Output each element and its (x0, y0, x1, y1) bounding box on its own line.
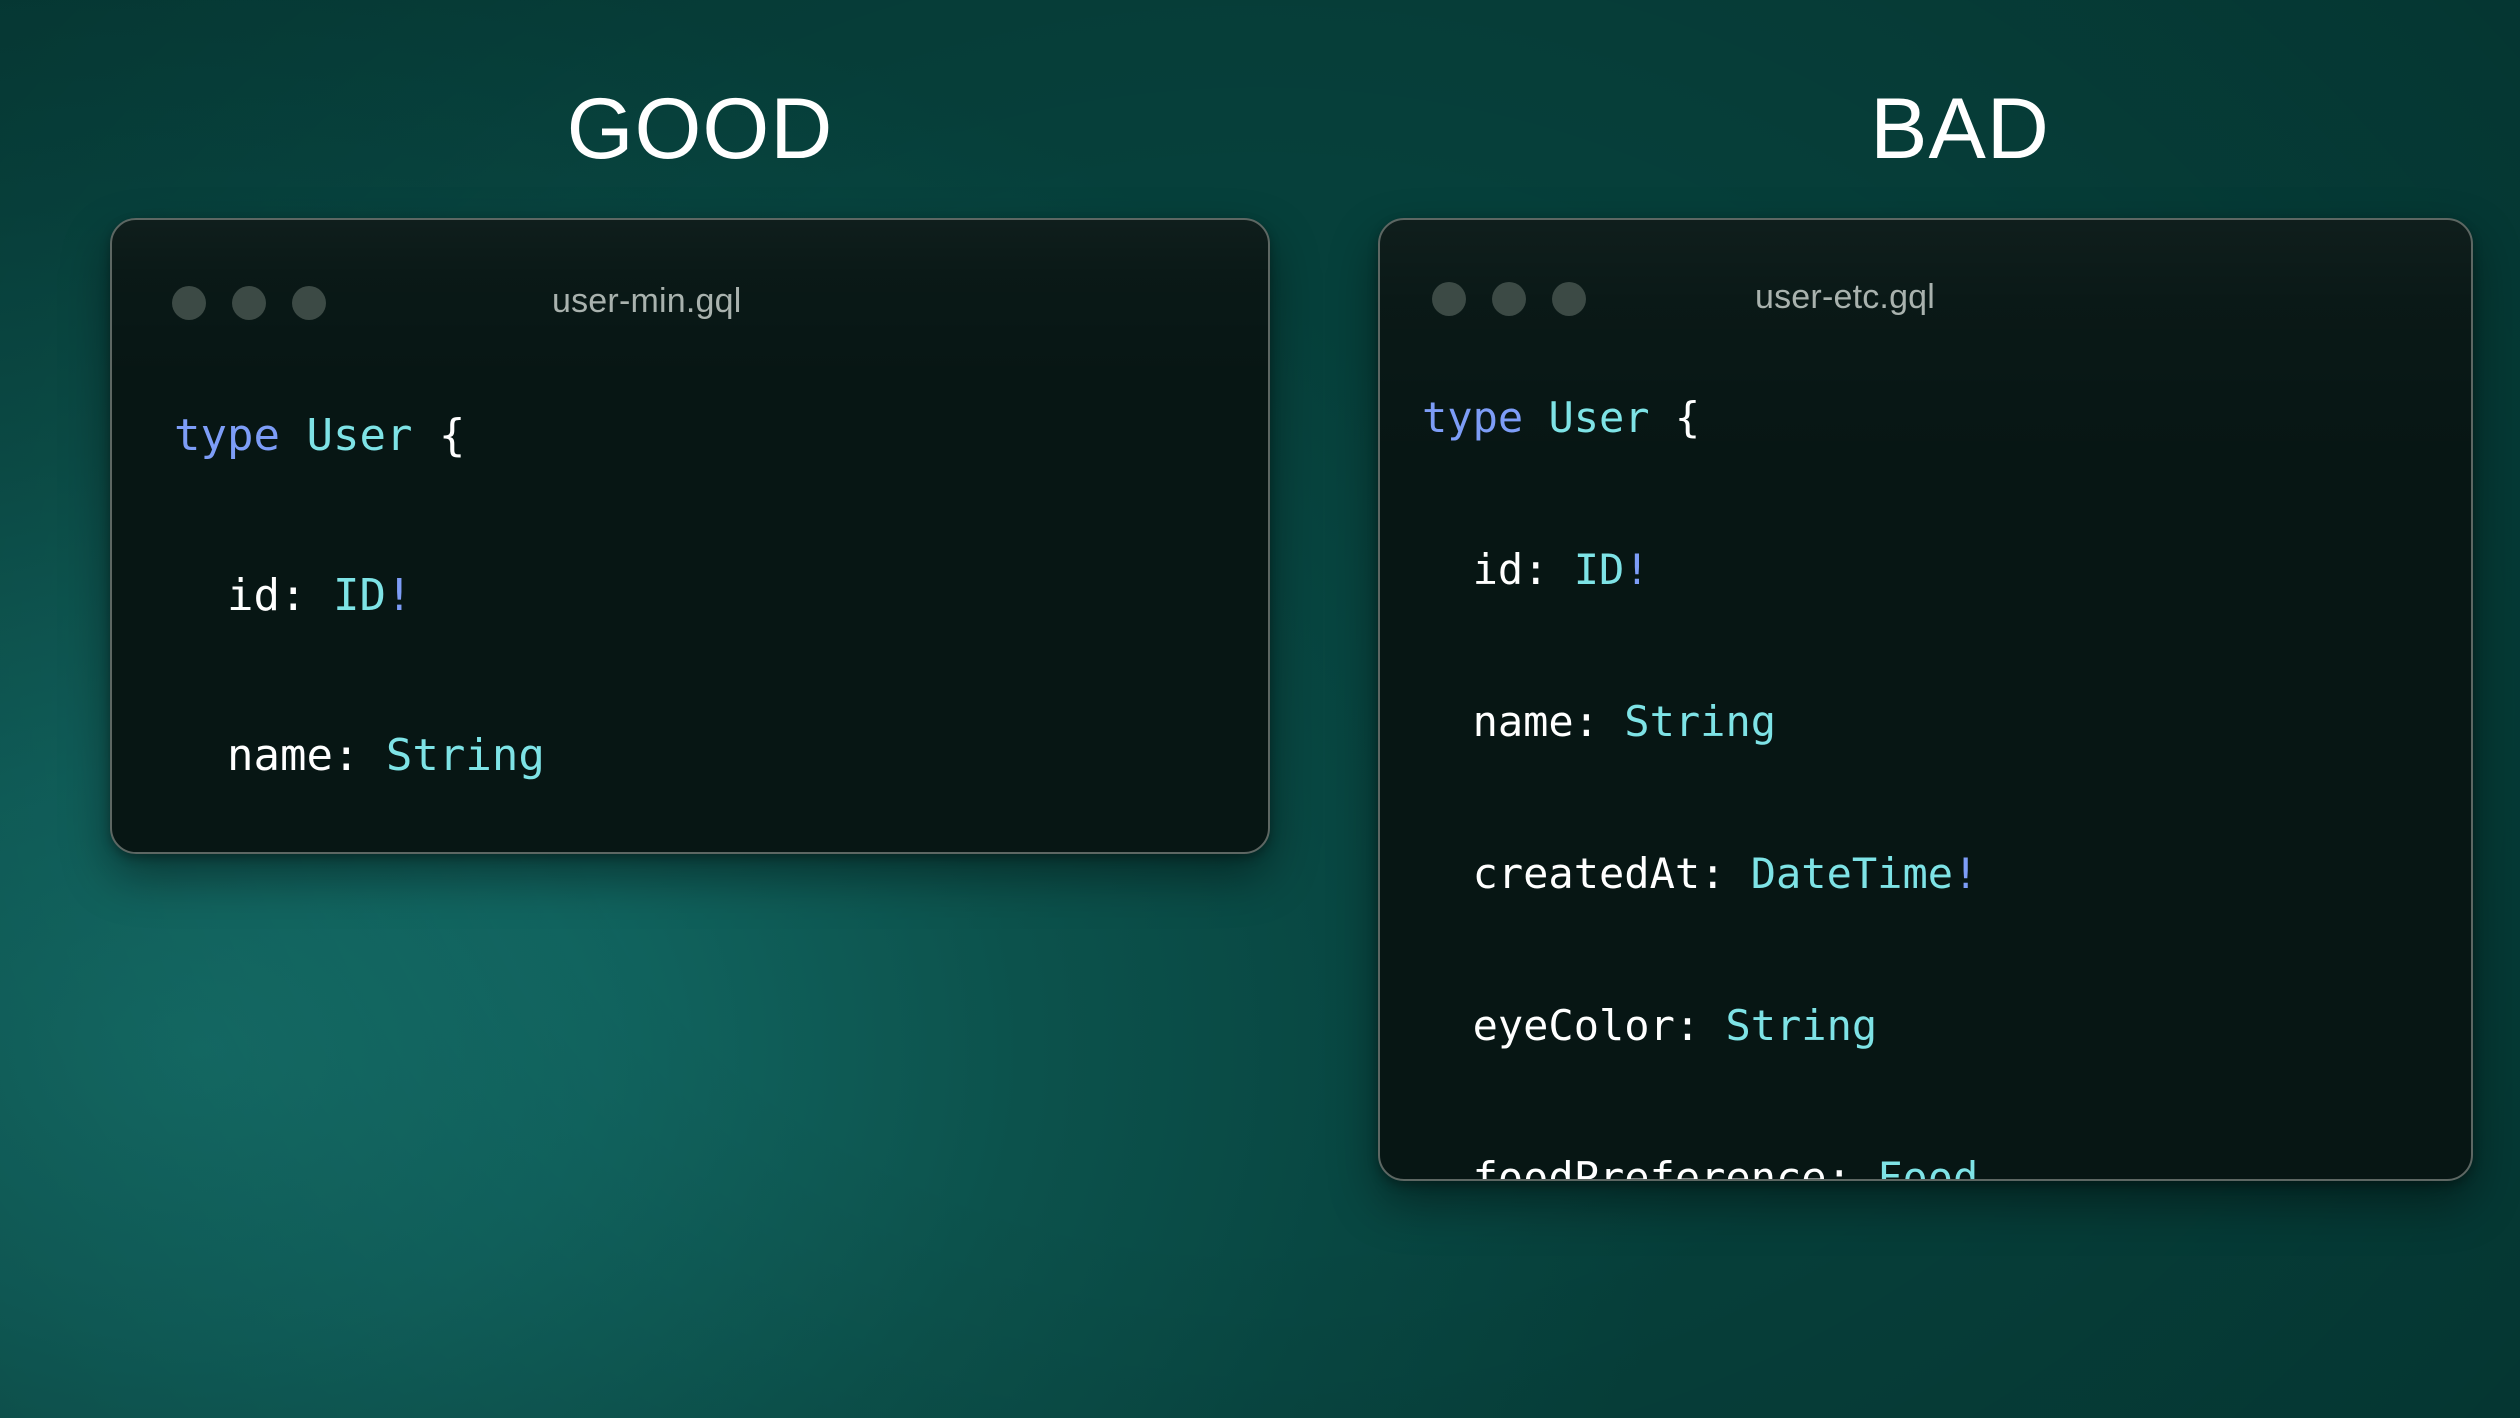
code-token-plain: name: (1422, 697, 1624, 746)
code-token-plain: name: (174, 730, 386, 781)
comparison-stage: GOOD user-min.gql type User { id: ID! na… (0, 0, 2520, 1418)
code-line: eyeColor: String (1422, 988, 1978, 1064)
window-dot-close-icon[interactable] (172, 286, 206, 320)
code-token-plain: id: (1422, 545, 1574, 594)
code-token-plain (280, 410, 307, 461)
code-token-plain: foodPreference: (1422, 1153, 1877, 1181)
code-line: name: String (174, 716, 757, 796)
code-line: type User { (1422, 380, 1978, 456)
code-line: id: ID! (1422, 532, 1978, 608)
code-block: type User { id: ID! name: String created… (174, 396, 757, 854)
code-token-type: ID (1574, 545, 1625, 594)
window-titlebar: user-min.gql (112, 220, 1268, 340)
code-block: type User { id: ID! name: String created… (1422, 380, 1978, 1181)
code-token-type: ID (333, 570, 386, 621)
panel-heading-good: GOOD (240, 86, 1160, 172)
window-filename: user-etc.gql (1755, 278, 1935, 317)
code-line: createdAt: DateTime! (1422, 836, 1978, 912)
window-dot-maximize-icon[interactable] (1552, 282, 1586, 316)
code-token-type: String (1624, 697, 1776, 746)
window-dot-maximize-icon[interactable] (292, 286, 326, 320)
code-line: type User { (174, 396, 757, 476)
code-token-plain: createdAt: (1422, 849, 1751, 898)
code-token-type: Food (1877, 1153, 1978, 1181)
code-token-keyword: ! (1953, 849, 1978, 898)
window-controls (172, 286, 326, 320)
window-controls (1432, 282, 1586, 316)
window-filename: user-min.gql (552, 282, 741, 321)
code-token-type: String (386, 730, 545, 781)
code-token-plain: eyeColor: (1422, 1001, 1725, 1050)
code-token-plain: id: (174, 570, 333, 621)
code-token-keyword: type (174, 410, 280, 461)
code-token-plain: { (412, 410, 465, 461)
code-line: id: ID! (174, 556, 757, 636)
code-token-plain (1523, 393, 1548, 442)
window-dot-minimize-icon[interactable] (1492, 282, 1526, 316)
code-token-keyword: ! (386, 570, 413, 621)
code-token-type: User (306, 410, 412, 461)
code-token-keyword: type (1422, 393, 1523, 442)
code-window-bad: user-etc.gql type User { id: ID! name: S… (1378, 218, 2473, 1181)
code-window-good: user-min.gql type User { id: ID! name: S… (110, 218, 1270, 854)
code-line: name: String (1422, 684, 1978, 760)
code-token-plain: { (1650, 393, 1701, 442)
code-token-type: DateTime (1751, 849, 1953, 898)
panel-heading-bad: BAD (1500, 86, 2420, 172)
code-token-type: String (1725, 1001, 1877, 1050)
code-token-keyword: ! (1624, 545, 1649, 594)
code-line: foodPreference: Food (1422, 1140, 1978, 1181)
code-token-type: User (1548, 393, 1649, 442)
window-dot-minimize-icon[interactable] (232, 286, 266, 320)
window-dot-close-icon[interactable] (1432, 282, 1466, 316)
window-titlebar: user-etc.gql (1380, 220, 2471, 340)
